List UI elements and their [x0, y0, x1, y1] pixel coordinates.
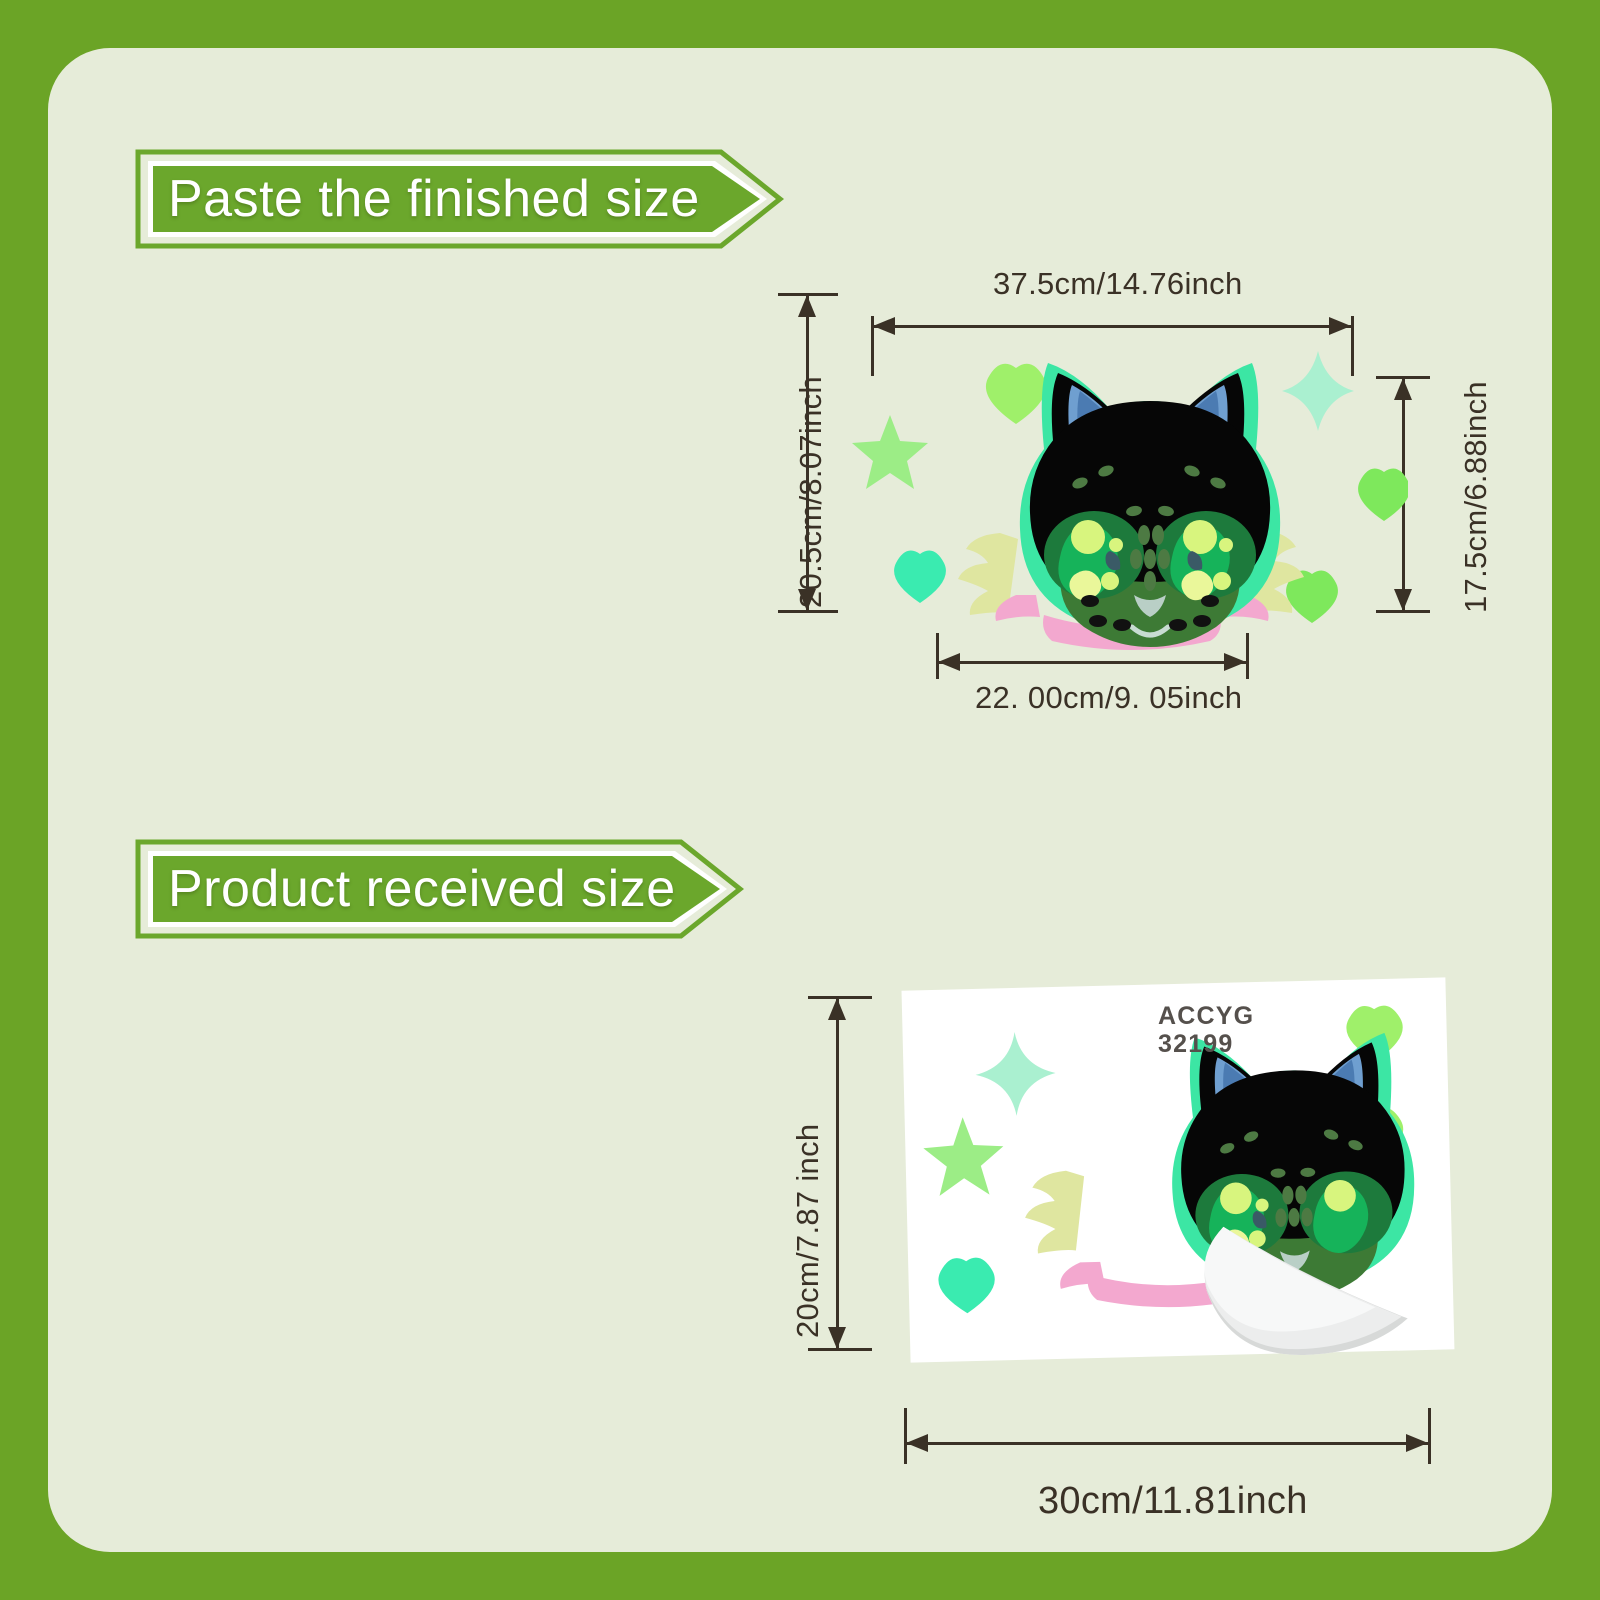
star-icon-left	[852, 415, 928, 489]
sheet-product-code: ACCYG 32199	[1158, 1002, 1358, 1058]
banner-arrow-shape	[132, 144, 792, 254]
cat-head	[1020, 363, 1280, 647]
sparkle-icon-right	[1282, 351, 1354, 431]
rule-sheet-width	[906, 1442, 1428, 1445]
sticker-sheet-illustration: ACCYG 32199	[900, 976, 1456, 1366]
rule-sheet-height	[836, 998, 839, 1349]
cat-eye-right-dot	[1213, 572, 1231, 590]
arrow-outer-height-top	[798, 295, 816, 317]
cat-eye-left-dot	[1101, 572, 1119, 590]
dim-art-height-label: 17.5cm/6.88inch	[1458, 381, 1494, 613]
sticker-sheet-product: ACCYG 32199	[900, 976, 1456, 1366]
heart-icon-top	[986, 364, 1046, 424]
heart-icon-right	[1358, 469, 1408, 521]
arrow-sheet-width-right	[1406, 1434, 1428, 1452]
tick-sheet-width-right	[1428, 1408, 1431, 1464]
dim-art-width-label: 22. 00cm/9. 05inch	[975, 680, 1242, 716]
cat-artwork-finished	[848, 333, 1408, 663]
cat-eye-right-highlight-small	[1219, 538, 1233, 552]
arrow-outer-height-bottom	[798, 589, 816, 611]
heart-icon-mint-left	[894, 551, 946, 603]
dim-outer-width-label: 37.5cm/14.76inch	[993, 266, 1243, 302]
arrow-sheet-width-left	[906, 1434, 928, 1452]
sheet-code-line1: ACCYG	[1158, 1002, 1358, 1030]
rule-outer-width	[873, 325, 1351, 328]
arrow-sheet-height-top	[828, 998, 846, 1020]
banner-product-received-size: Product received size	[132, 834, 752, 944]
sheet-code-line2: 32199	[1158, 1030, 1358, 1058]
cat-eye-right-highlight	[1183, 520, 1217, 554]
cat-eye-left-highlight-small	[1109, 538, 1123, 552]
dim-sheet-height-label: 20cm/7.87 inch	[790, 1124, 826, 1338]
banner-arrow-shape-2	[132, 834, 752, 944]
cat-eye-left-highlight	[1071, 520, 1105, 554]
cat-illustration	[848, 333, 1408, 663]
page-frame: Paste the finished size 37.5cm/14.76inch…	[48, 48, 1552, 1552]
arrow-sheet-height-bottom	[828, 1327, 846, 1349]
banner-paste-finished-size: Paste the finished size	[132, 144, 792, 254]
rule-outer-height	[806, 295, 809, 611]
dim-outer-height-label: 20.5cm/8.07inch	[793, 376, 829, 608]
dim-sheet-width-label: 30cm/11.81inch	[1038, 1480, 1308, 1523]
